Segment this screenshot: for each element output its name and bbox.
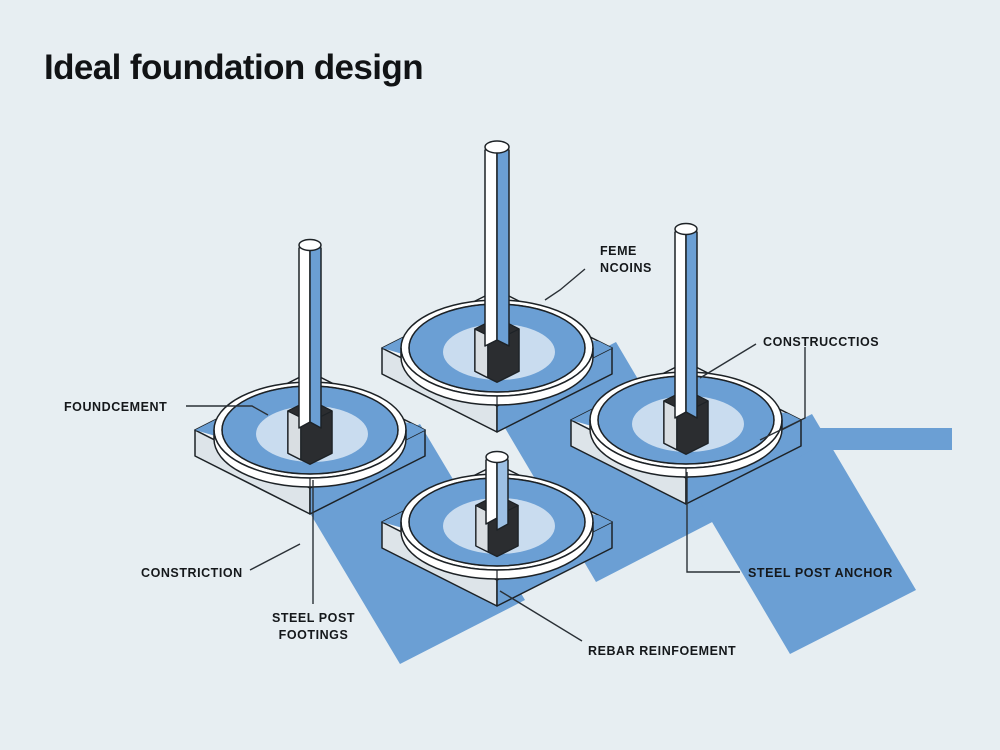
leader-rebar-reinfoement bbox=[500, 591, 582, 641]
label-constriction: CONSTRICTION bbox=[141, 565, 243, 582]
footing-top bbox=[382, 141, 612, 432]
steel-post-bottom bbox=[486, 452, 508, 531]
label-steel-post-anchor: STEEL POST ANCHOR bbox=[748, 565, 893, 582]
label-feme-ncoins: FEME NCOINS bbox=[600, 243, 652, 277]
foundation-isometric-illustration: .ol { stroke:#1d2226; stroke-width:1.5; … bbox=[0, 0, 1000, 750]
leader-construcctios-a bbox=[700, 344, 756, 378]
leader-feme-ncoins bbox=[545, 269, 585, 300]
diagram-canvas: Ideal foundation design .ol { stroke:#1d… bbox=[0, 0, 1000, 750]
steel-post-left bbox=[299, 240, 321, 429]
steel-post-right bbox=[675, 224, 697, 419]
label-rebar-reinfoement: REBAR REINFOEMENT bbox=[588, 643, 736, 660]
label-construcctios: CONSTRUCCTIOS bbox=[763, 334, 879, 351]
steel-post-top bbox=[485, 141, 509, 346]
label-foundcement: FOUNDCEMENT bbox=[64, 399, 167, 416]
leader-constriction bbox=[250, 544, 300, 570]
label-steel-post-footings: STEEL POST FOOTINGS bbox=[256, 610, 371, 644]
